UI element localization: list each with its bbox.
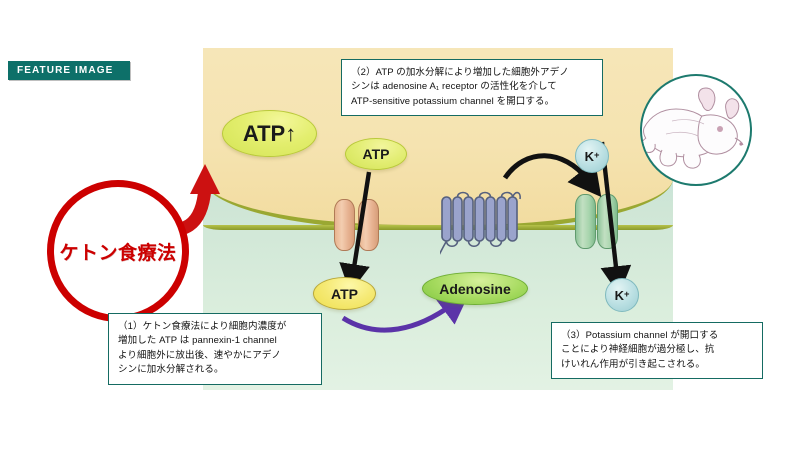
note-step-3: （3）Potassium channel が開口する ことにより神経細胞が過分極… [551, 322, 763, 379]
potassium-outside-charge: + [594, 151, 599, 160]
arrow-atp-efflux [353, 172, 369, 274]
potassium-inside-label: K [615, 289, 624, 302]
note-step-1-text: （1）ケトン食療法により細胞内濃度が 増加した ATP は pannexin-1… [118, 320, 313, 378]
ketogenic-diet-label: ケトン食療法 [59, 238, 176, 265]
feature-image-ribbon: FEATURE IMAGE [8, 61, 130, 80]
mouse-illustration-circle [640, 74, 752, 186]
note-step-1: （1）ケトン食療法により細胞内濃度が 増加した ATP は pannexin-1… [108, 313, 322, 385]
mouse-icon [642, 76, 752, 186]
atp-intracellular-label: ATP [363, 147, 390, 161]
ketogenic-diet-circle: ケトン食療法 [47, 180, 189, 322]
atp-extracellular-bubble: ATP [313, 277, 376, 310]
note-step-3-text: （3）Potassium channel が開口する ことにより神経細胞が過分極… [561, 329, 754, 372]
potassium-outside-label: K [585, 150, 594, 163]
atp-increase-label: ATP [243, 123, 285, 145]
potassium-inside-charge: + [624, 290, 629, 299]
potassium-outside-bubble: K+ [575, 139, 609, 173]
atp-increase-arrow: ↑ [285, 123, 296, 145]
feature-image-label: FEATURE IMAGE [8, 65, 113, 76]
potassium-inside-bubble: K+ [605, 278, 639, 312]
atp-extracellular-label: ATP [331, 287, 358, 301]
adenosine-label: Adenosine [439, 282, 511, 296]
note-step-2: （2）ATP の加水分解により増加した細胞外アデノ シンは adenosine … [341, 59, 603, 116]
note-step-2-text: （2）ATP の加水分解により増加した細胞外アデノ シンは adenosine … [351, 66, 594, 109]
atp-intracellular-bubble: ATP [345, 138, 407, 170]
adenosine-bubble: Adenosine [422, 272, 528, 305]
